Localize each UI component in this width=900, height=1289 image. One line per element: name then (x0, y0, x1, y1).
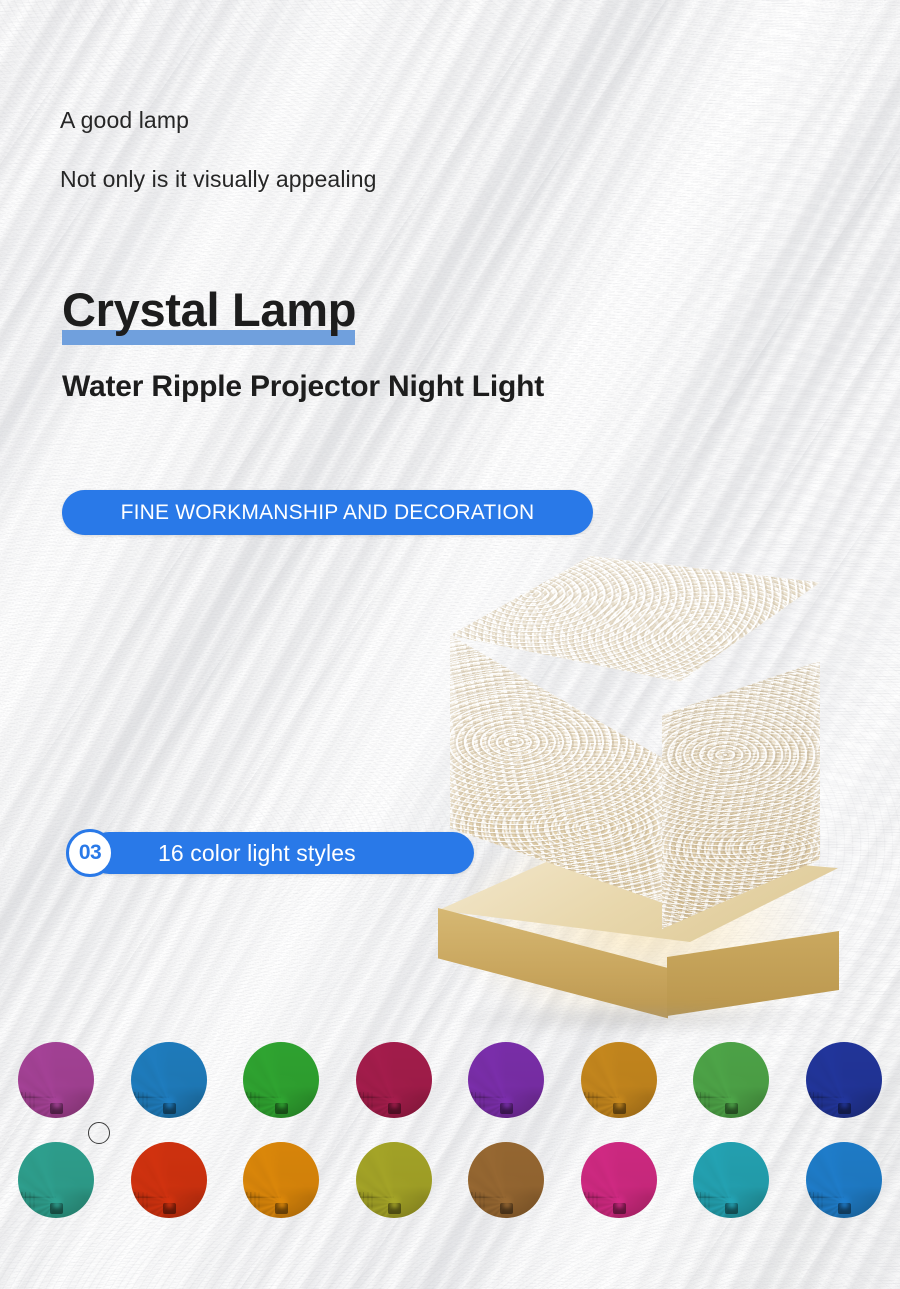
section-number-circle: 03 (66, 829, 114, 877)
color-tint-overlay (581, 1042, 657, 1118)
color-tint-overlay (356, 1042, 432, 1118)
color-tint-overlay (806, 1142, 882, 1218)
swatch-image (243, 1042, 319, 1118)
swatch-image (356, 1042, 432, 1118)
color-tint-overlay (243, 1042, 319, 1118)
color-swatch-aqua-cyan[interactable] (675, 1142, 788, 1242)
glass-cube-top-face (450, 556, 820, 682)
color-tint-overlay (131, 1142, 207, 1218)
color-swatch-deep-blue[interactable] (788, 1042, 900, 1142)
swatch-image (693, 1142, 769, 1218)
title-block: Crystal Lamp (62, 286, 356, 333)
swatch-image (468, 1142, 544, 1218)
color-swatch-bronze-brown[interactable] (450, 1142, 563, 1242)
swatch-image (131, 1042, 207, 1118)
swatch-image (18, 1042, 94, 1118)
swatch-image (356, 1142, 432, 1218)
color-swatch-teal-cyan[interactable] (0, 1142, 113, 1242)
swatch-image (806, 1142, 882, 1218)
color-swatch-violet-purple[interactable] (450, 1042, 563, 1142)
feature-pill: FINE WORKMANSHIP AND DECORATION (62, 490, 593, 535)
color-tint-overlay (581, 1142, 657, 1218)
intro-line-1: A good lamp (60, 107, 189, 134)
feature-pill-label: FINE WORKMANSHIP AND DECORATION (121, 501, 535, 525)
swatch-image (131, 1142, 207, 1218)
lamp-drop-shadow (452, 1008, 824, 1034)
swatch-image (468, 1042, 544, 1118)
color-swatch-orange-red[interactable] (113, 1142, 226, 1242)
color-swatch-hot-pink[interactable] (563, 1142, 676, 1242)
color-swatch-grid (0, 1042, 900, 1242)
swatch-image (18, 1142, 94, 1218)
color-swatch-spring-green[interactable] (675, 1042, 788, 1142)
swatch-image (581, 1142, 657, 1218)
color-tint-overlay (468, 1142, 544, 1218)
color-tint-overlay (18, 1142, 94, 1218)
color-tint-overlay (806, 1042, 882, 1118)
color-swatch-sky-blue[interactable] (788, 1142, 900, 1242)
color-swatch-crimson-red[interactable] (338, 1042, 451, 1142)
color-swatch-olive-yellow[interactable] (338, 1142, 451, 1242)
color-swatch-orange-amber[interactable] (225, 1142, 338, 1242)
color-tint-overlay (243, 1142, 319, 1218)
color-swatch-amber-gold[interactable] (563, 1042, 676, 1142)
color-swatch-bright-green[interactable] (225, 1042, 338, 1142)
color-tint-overlay (468, 1042, 544, 1118)
product-banner-page: A good lamp Not only is it visually appe… (0, 0, 900, 1289)
swatch-image (693, 1042, 769, 1118)
swatch-image (806, 1042, 882, 1118)
swatch-image (243, 1142, 319, 1218)
color-tint-overlay (18, 1042, 94, 1118)
page-title: Crystal Lamp (62, 286, 356, 333)
color-tint-overlay (693, 1042, 769, 1118)
section-number: 03 (79, 841, 101, 865)
intro-line-2: Not only is it visually appealing (60, 166, 377, 193)
color-tint-overlay (131, 1042, 207, 1118)
page-subtitle: Water Ripple Projector Night Light (62, 370, 544, 404)
color-tint-overlay (356, 1142, 432, 1218)
crystal-lamp-product-image (432, 556, 852, 1034)
color-tint-overlay (693, 1142, 769, 1218)
cursor-ring-icon (88, 1122, 110, 1144)
color-swatch-azure-blue[interactable] (113, 1042, 226, 1142)
section-badge-pill: 16 color light styles (88, 832, 474, 874)
section-badge-label: 16 color light styles (158, 840, 356, 867)
swatch-image (581, 1042, 657, 1118)
